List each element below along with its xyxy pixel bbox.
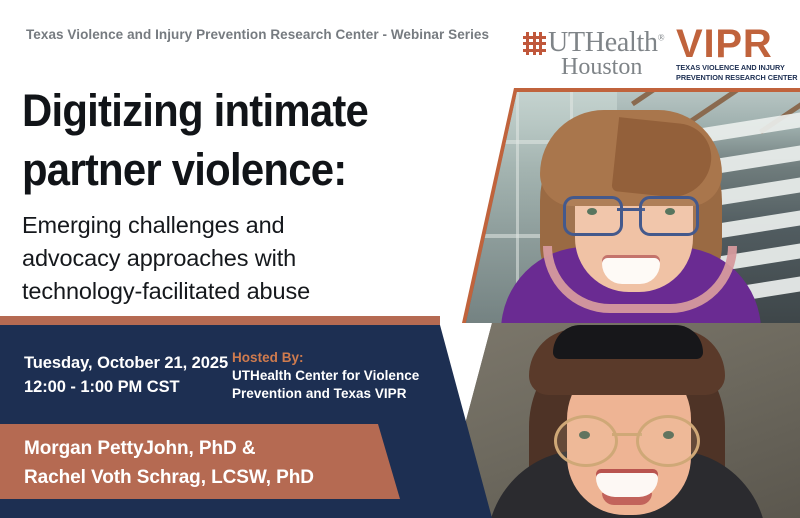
speaker-photo-1-frame (462, 88, 800, 323)
hosted-by-line-2: Prevention and Texas VIPR (232, 385, 437, 403)
uthealth-logo-primary-row: UTHealth® (523, 29, 664, 57)
event-date: Tuesday, October 21, 2025 (24, 352, 228, 376)
uthealth-city-label: Houston (561, 55, 642, 79)
uthealth-hash-icon (523, 32, 546, 55)
uthealth-wordmark: UTHealth® (548, 29, 664, 57)
speaker-name-line-2: Rachel Voth Schrag, LCSW, PhD (24, 463, 314, 492)
eyeglasses-icon (563, 196, 699, 230)
webinar-subtitle-line-3: technology-facilitated abuse (22, 275, 422, 308)
hosted-by-block: Hosted By: UTHealth Center for Violence … (232, 349, 437, 403)
speaker-name-line-1: Morgan PettyJohn, PhD & (24, 434, 314, 463)
webinar-series-eyebrow: Texas Violence and Injury Prevention Res… (26, 27, 526, 42)
speaker-photo-2 (440, 323, 800, 518)
event-datetime: Tuesday, October 21, 2025 12:00 - 1:00 P… (24, 352, 228, 399)
webinar-title-line-1: Digitizing intimate (22, 81, 441, 140)
photo-2-portrait (440, 323, 800, 518)
webinar-title: Digitizing intimate partner violence: (22, 81, 441, 199)
webinar-subtitle: Emerging challenges and advocacy approac… (22, 209, 422, 308)
uthealth-registered-mark: ® (658, 33, 665, 43)
photo-1-portrait (462, 88, 800, 323)
vipr-subtitle-line-1: TEXAS VIOLENCE AND INJURY (676, 64, 780, 73)
vipr-subtitle-line-2: PREVENTION RESEARCH CENTER (676, 74, 780, 83)
webinar-flyer: Texas Violence and Injury Prevention Res… (0, 0, 800, 518)
speaker-photo-1 (462, 88, 800, 323)
uthealth-houston-logo: UTHealth® Houston (523, 29, 663, 79)
vipr-logo: VIPR TEXAS VIOLENCE AND INJURY PREVENTIO… (676, 26, 780, 78)
webinar-title-line-2: partner violence: (22, 140, 441, 199)
hosted-by-label: Hosted By: (232, 349, 437, 367)
rust-divider-rule (0, 316, 440, 325)
event-time: 12:00 - 1:00 PM CST (24, 376, 228, 400)
webinar-subtitle-line-2: advocacy approaches with (22, 242, 422, 275)
eyeglasses-round-icon (554, 415, 700, 461)
speaker-names: Morgan PettyJohn, PhD & Rachel Voth Schr… (24, 434, 314, 492)
vipr-acronym: VIPR (676, 26, 780, 63)
webinar-subtitle-line-1: Emerging challenges and (22, 209, 422, 242)
hosted-by-line-1: UTHealth Center for Violence (232, 367, 437, 385)
